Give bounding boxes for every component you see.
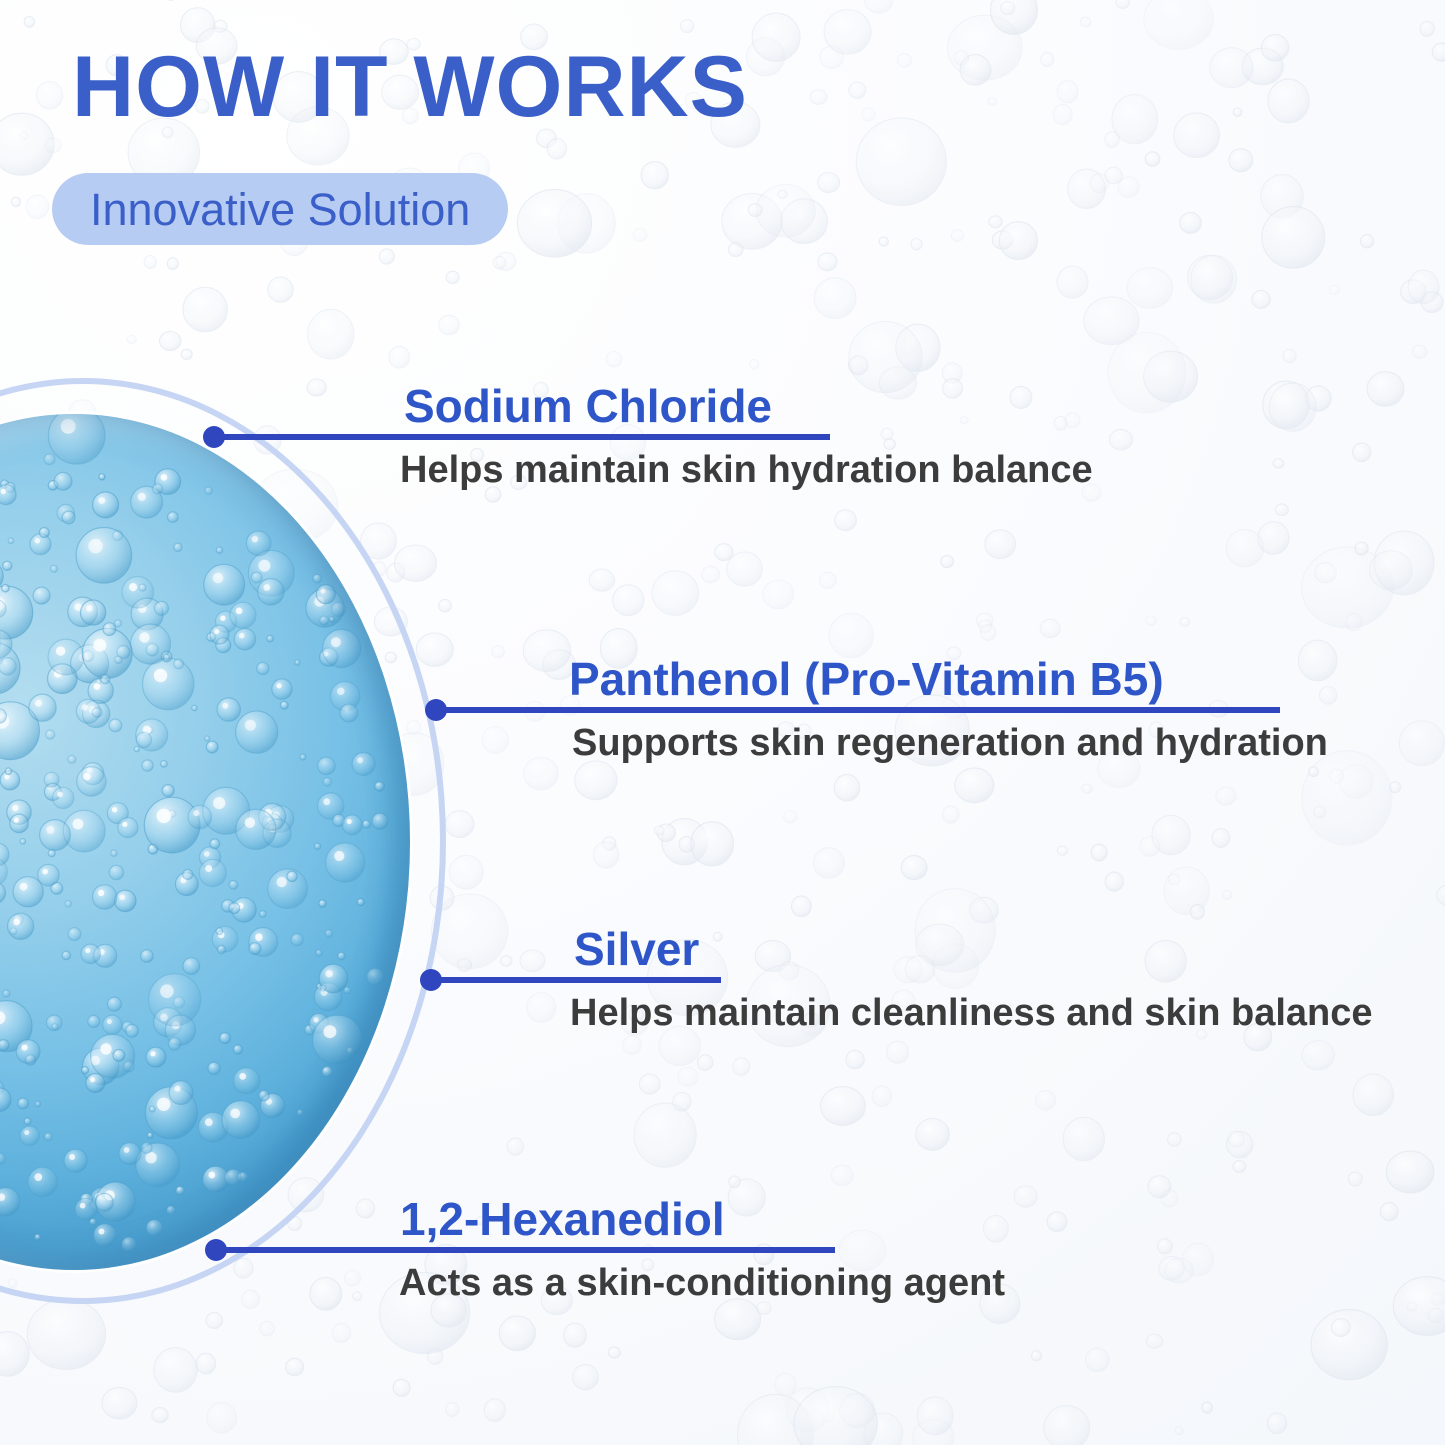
callout-description: Helps maintain cleanliness and skin bala…: [570, 994, 1373, 1032]
callout-rule: [437, 977, 721, 983]
callout-title: Panthenol (Pro-Vitamin B5): [569, 656, 1164, 702]
gel-ring-outline: [0, 378, 446, 1304]
callout-rule: [220, 434, 830, 440]
callout-description: Supports skin regeneration and hydration: [572, 724, 1328, 762]
infographic-canvas: HOW IT WORKS Innovative Solution Sodium …: [0, 0, 1445, 1445]
callout-rule: [442, 707, 1280, 713]
callout-title: Silver: [574, 926, 699, 972]
callout-description: Helps maintain skin hydration balance: [400, 451, 1093, 489]
callout-rule: [222, 1247, 835, 1253]
page-title: HOW IT WORKS: [72, 44, 748, 130]
subtitle-badge-label: Innovative Solution: [90, 187, 470, 232]
callout-description: Acts as a skin-conditioning agent: [399, 1264, 1005, 1302]
gel-circle-visual: [0, 378, 450, 1308]
callout-title: 1,2-Hexanediol: [400, 1196, 725, 1242]
gel-body: [0, 414, 410, 1270]
gel-bubbles: [0, 414, 410, 1270]
callout-title: Sodium Chloride: [404, 383, 772, 429]
subtitle-badge: Innovative Solution: [52, 173, 508, 245]
